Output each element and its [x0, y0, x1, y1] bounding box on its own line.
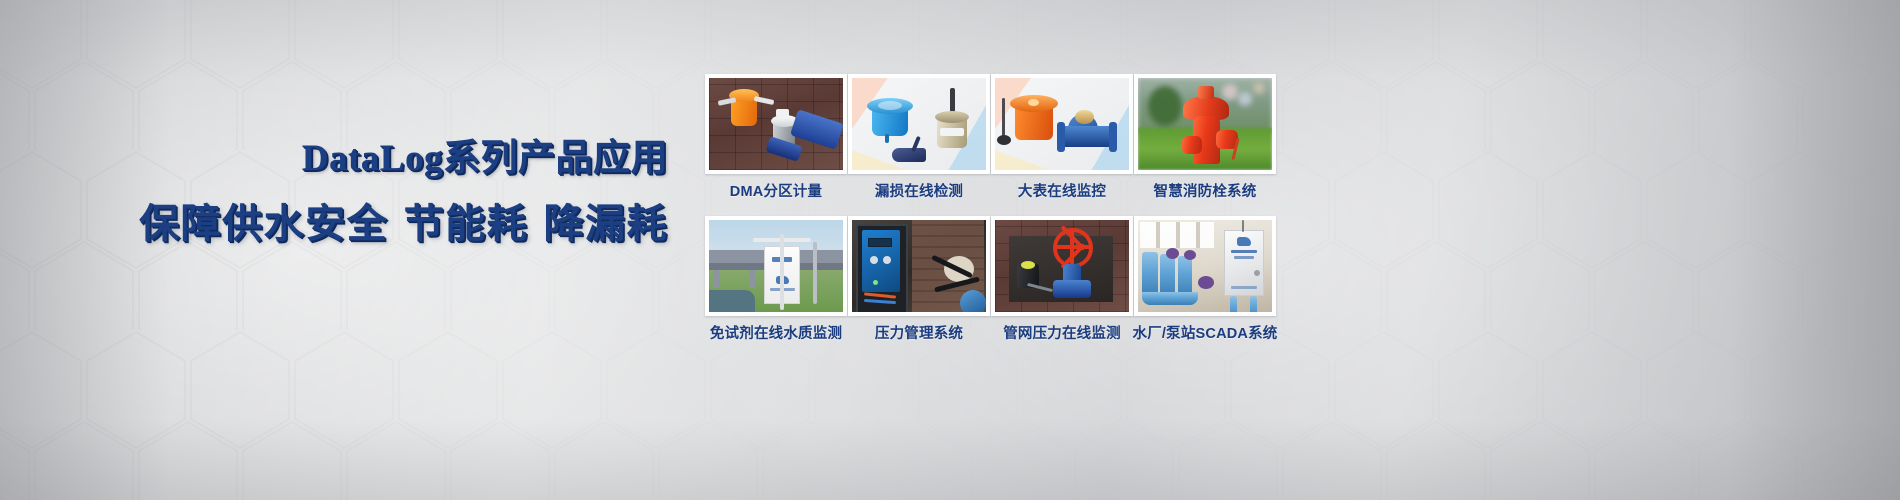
waterworks-pump-scada-photo — [1138, 220, 1272, 312]
product-caption: 水厂/泵站SCADA系统 — [1120, 322, 1290, 343]
product-card-leakage-detection[interactable]: 漏损在线检测 — [848, 74, 990, 174]
headline-line-2: 保障供水安全 节能耗 降漏耗 — [0, 204, 668, 244]
pressure-management-thumbnail[interactable] — [848, 216, 990, 316]
product-caption: 智慧消防栓系统 — [1120, 180, 1290, 201]
reagent-free-water-quality-photo — [709, 220, 843, 312]
leakage-detection-thumbnail[interactable] — [848, 74, 990, 174]
product-card-smart-hydrant[interactable]: 智慧消防栓系统 — [1134, 74, 1276, 174]
banner-headline: DataLog系列产品应用 保障供水安全 节能耗 降漏耗 — [0, 140, 690, 244]
product-card-dma-zone-metering[interactable]: DMA分区计量 — [705, 74, 847, 174]
product-card-water-quality[interactable]: 免试剂在线水质监测 — [705, 216, 847, 316]
pipeline-pressure-thumbnail[interactable] — [991, 216, 1133, 316]
smart-hydrant-thumbnail[interactable] — [1134, 74, 1276, 174]
product-card-pressure-management[interactable]: 压力管理系统 — [848, 216, 990, 316]
large-meter-monitoring-photo — [995, 78, 1129, 170]
dma-zone-metering-photo — [709, 78, 843, 170]
product-card-scada[interactable]: 水厂/泵站SCADA系统 — [1134, 216, 1276, 316]
product-card-large-meter-monitoring[interactable]: 大表在线监控 — [991, 74, 1133, 174]
product-card-pipeline-pressure[interactable]: 管网压力在线监测 — [991, 216, 1133, 316]
dma-zone-metering-thumbnail[interactable] — [705, 74, 847, 174]
smart-hydrant-system-photo — [1138, 78, 1272, 170]
product-application-banner: DataLog系列产品应用 保障供水安全 节能耗 降漏耗 D — [0, 0, 1900, 500]
headline-line-1: DataLog系列产品应用 — [0, 140, 668, 177]
large-meter-monitoring-thumbnail[interactable] — [991, 74, 1133, 174]
water-quality-thumbnail[interactable] — [705, 216, 847, 316]
pressure-management-photo — [852, 220, 986, 312]
pipeline-pressure-monitoring-photo — [995, 220, 1129, 312]
product-application-grid: DMA分区计量 漏损在线检测 — [705, 74, 1276, 316]
scada-thumbnail[interactable] — [1134, 216, 1276, 316]
leakage-online-detection-photo — [852, 78, 986, 170]
